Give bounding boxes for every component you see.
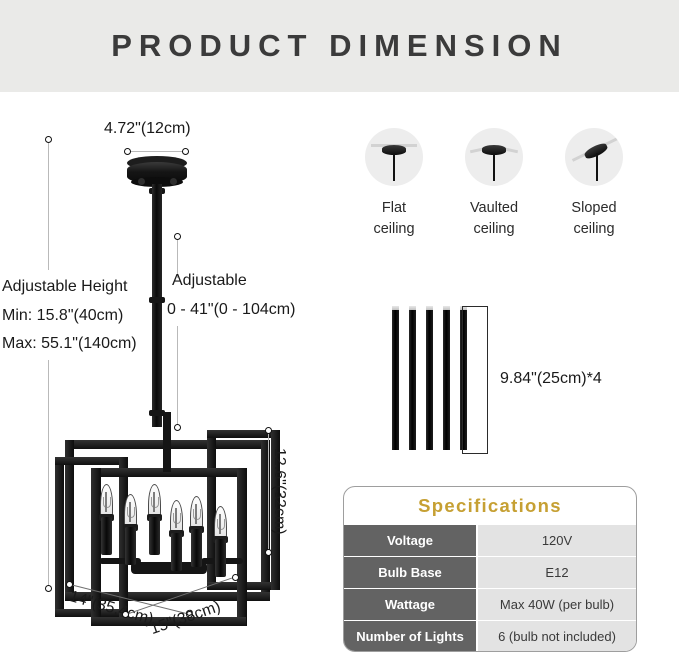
vaulted-ceiling-label-line1: Vaulted <box>444 198 544 219</box>
canopy-dim-dot-right <box>182 148 189 155</box>
bulb-socket <box>215 539 226 577</box>
adjustable-height-min: Min: 15.8"(40cm) <box>2 307 123 325</box>
fixture-height-label: 12.6"(32cm) <box>270 448 288 535</box>
canopy-dimension-line <box>130 151 184 152</box>
adjustable-height-label: Adjustable Height <box>2 278 127 296</box>
spec-value-number-of-lights: 6 (bulb not included) <box>478 621 636 652</box>
adjustable-height-max: Max: 55.1"(140cm) <box>2 335 137 353</box>
rod-length-label: 9.84"(25cm)*4 <box>500 370 602 388</box>
main-rod <box>152 184 162 427</box>
rod-piece-4 <box>443 310 450 450</box>
bulb-filament-stem-icon <box>175 508 177 528</box>
sloped-ceiling-label-line2: ceiling <box>544 219 644 240</box>
bulb-filament-stem-icon <box>153 492 155 512</box>
spec-key-bulb-base: Bulb Base <box>344 557 476 588</box>
adjustable-range-dot-top <box>174 233 181 240</box>
adjustable-range-label: 0 - 41"(0 - 104cm) <box>167 301 295 319</box>
bulb-filament-stem-icon <box>219 514 221 534</box>
canopy-dim-dot-left <box>124 148 131 155</box>
spec-value-voltage: 120V <box>478 525 636 556</box>
sloped-ceiling-label-line1: Sloped <box>544 198 644 219</box>
specifications-title: Specifications <box>344 487 636 525</box>
cage-bar-sideleft-outer <box>55 457 64 617</box>
spec-value-bulb-base: E12 <box>478 557 636 588</box>
rod-measure-bracket <box>462 306 488 454</box>
table-row: Wattage Max 40W (per bulb) <box>344 589 636 620</box>
bulb-socket <box>125 527 136 565</box>
ceiling-type-vaulted: Vaulted ceiling <box>444 128 544 240</box>
bulb-filament-stem-icon <box>105 492 107 512</box>
product-dimension-infographic: PRODUCT DIMENSION 4.72"(12cm) Adjustable… <box>0 0 679 661</box>
ceiling-type-flat: Flat ceiling <box>344 128 444 240</box>
canopy-screw-left <box>138 178 145 185</box>
sloped-ceiling-icon <box>565 128 623 186</box>
bulb-socket <box>191 529 202 567</box>
ceiling-type-sloped: Sloped ceiling <box>544 128 644 240</box>
fixture-width-dot-right <box>232 574 239 581</box>
adjustable-height-line-top <box>48 140 49 270</box>
bulb-filament-stem-icon <box>195 504 197 524</box>
table-row: Voltage 120V <box>344 525 636 556</box>
rod-piece-3 <box>426 310 433 450</box>
adjustable-height-dot-top <box>45 136 52 143</box>
spec-key-wattage: Wattage <box>344 589 476 620</box>
flat-ceiling-label-line1: Flat <box>344 198 444 219</box>
cage-bar-front-right <box>237 468 247 626</box>
adjustable-range-line-bottom <box>177 326 178 426</box>
spec-key-voltage: Voltage <box>344 525 476 556</box>
fixture-depth-dot-left <box>66 581 73 588</box>
specifications-table: Specifications Voltage 120V Bulb Base E1… <box>343 486 637 652</box>
adjustable-height-line-bottom <box>48 360 49 588</box>
header-banner: PRODUCT DIMENSION <box>0 0 679 92</box>
vaulted-ceiling-icon <box>465 128 523 186</box>
adjustable-label: Adjustable <box>172 272 247 290</box>
fixture-width-dot-left <box>122 611 129 618</box>
product-drawing: 4.72"(12cm) Adjustable Height Min: 15.8"… <box>0 92 340 661</box>
bulb-filament-stem-icon <box>129 502 131 522</box>
fixture-height-dot-bottom <box>265 549 272 556</box>
ceiling-type-group: Flat ceiling Vaulted ceiling <box>340 128 679 268</box>
cage-bar-sideleft-top <box>55 457 127 465</box>
bulb-socket <box>171 533 182 571</box>
canopy-dimension-label: 4.72"(12cm) <box>104 120 191 138</box>
fixture-height-dot-top <box>265 427 272 434</box>
bulb-socket <box>101 517 112 555</box>
rod-collar-mid <box>149 297 165 303</box>
canopy-screw-right <box>170 178 177 185</box>
spec-key-number-of-lights: Number of Lights <box>344 621 476 652</box>
spec-value-wattage: Max 40W (per bulb) <box>478 589 636 620</box>
cage-center-stem <box>163 412 171 472</box>
table-row: Number of Lights 6 (bulb not included) <box>344 621 636 652</box>
adjustable-height-dot-bottom <box>45 585 52 592</box>
bulb-socket <box>149 517 160 555</box>
vaulted-ceiling-label-line2: ceiling <box>444 219 544 240</box>
extension-rod-group: 9.84"(25cm)*4 <box>392 300 679 460</box>
flat-ceiling-icon <box>365 128 423 186</box>
rod-piece-1 <box>392 310 399 450</box>
rod-piece-2 <box>409 310 416 450</box>
table-row: Bulb Base E12 <box>344 557 636 588</box>
page-title: PRODUCT DIMENSION <box>111 28 568 64</box>
flat-ceiling-label-line2: ceiling <box>344 219 444 240</box>
